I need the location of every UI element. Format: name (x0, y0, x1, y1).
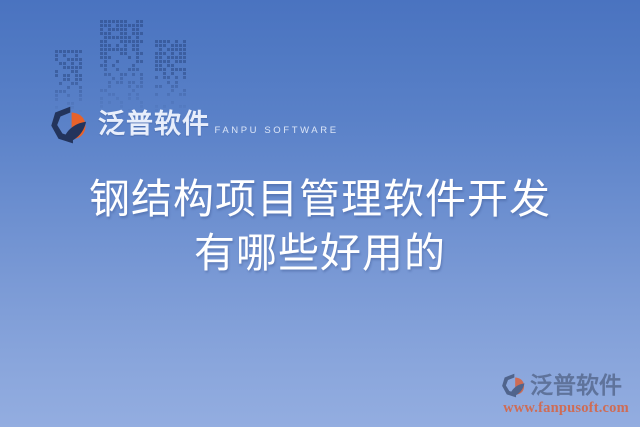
page-title-line-1: 钢结构项目管理软件开发 (0, 172, 640, 226)
brand-name-en: FANPU SOFTWARE (214, 125, 338, 136)
poster-canvas: 泛普软件 FANPU SOFTWARE 钢结构项目管理软件开发 有哪些好用的 泛… (0, 0, 640, 427)
watermark-url: www.fanpusoft.com (500, 401, 632, 416)
brand-name-cn: 泛普软件 (98, 109, 210, 139)
watermark-fanpu-logo-icon (500, 372, 527, 399)
skyline-building-left (55, 50, 85, 112)
page-title: 钢结构项目管理软件开发 有哪些好用的 (0, 172, 640, 280)
page-title-line-2: 有哪些好用的 (0, 226, 640, 280)
skyline-building-right (155, 40, 189, 112)
brand-lockup: 泛普软件 FANPU SOFTWARE (48, 104, 339, 146)
fanpu-logo-icon (48, 104, 90, 146)
brand-text-block: 泛普软件 FANPU SOFTWARE (98, 111, 339, 139)
pixel-skyline-decoration (55, 14, 190, 112)
watermark: 泛普软件 www.fanpusoft.com (500, 372, 632, 416)
skyline-building-middle (100, 20, 145, 112)
watermark-name-cn: 泛普软件 (530, 374, 622, 397)
watermark-brand-row: 泛普软件 (500, 372, 632, 399)
